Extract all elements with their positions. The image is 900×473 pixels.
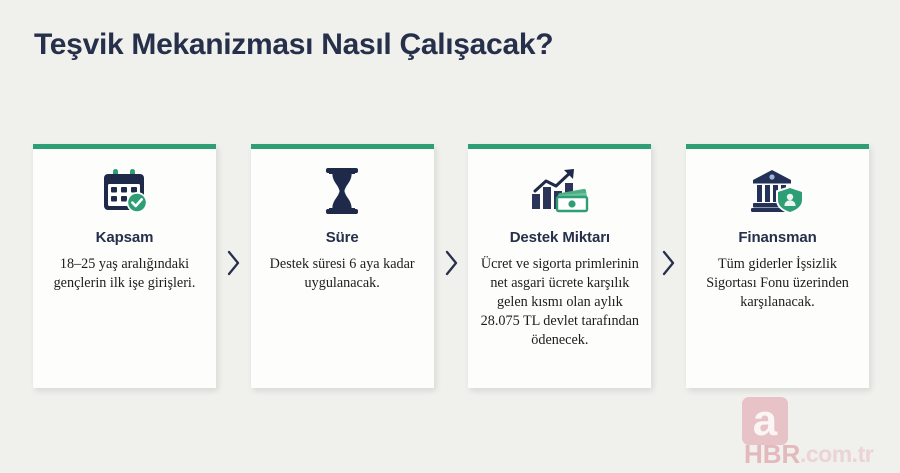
ahaber-watermark-logo: a HBR .com.tr [734, 395, 886, 465]
card-kapsam[interactable]: Kapsam 18–25 yaş aralığındaki gençlerin … [33, 144, 216, 388]
watermark-brand: HBR [744, 439, 800, 470]
card-body: 18–25 yaş aralığındaki gençlerin ilk işe… [42, 255, 207, 293]
chevron-right-icon-1 [216, 248, 251, 278]
page-title: Teşvik Mekanizması Nasıl Çalışacak? [34, 28, 553, 62]
card-accent-bar [251, 144, 434, 149]
card-sure[interactable]: Süre Destek süresi 6 aya kadar uygulanac… [251, 144, 434, 388]
card-body: Destek süresi 6 aya kadar uygulanacak. [260, 255, 425, 293]
hourglass-icon [320, 166, 364, 216]
card-accent-bar [686, 144, 869, 149]
card-heading: Süre [326, 229, 359, 246]
chevron-right-icon-3 [651, 248, 686, 278]
card-destek-miktari[interactable]: Destek Miktarı Ücret ve sigorta primleri… [468, 144, 651, 388]
watermark-a-letter: a [742, 397, 788, 445]
card-body: Ücret ve sigorta primlerinin net asgari … [477, 255, 642, 349]
card-body: Tüm giderler İşsizlik Sigortası Fonu üze… [695, 255, 860, 312]
watermark-domain: .com.tr [800, 441, 873, 468]
card-heading: Kapsam [96, 229, 154, 246]
card-heading: Finansman [738, 229, 816, 246]
card-heading: Destek Miktarı [510, 229, 610, 246]
growth-chart-money-icon [529, 166, 591, 216]
bank-shield-icon [750, 166, 806, 216]
card-finansman[interactable]: Finansman Tüm giderler İşsizlik Sigortas… [686, 144, 869, 388]
calendar-check-icon [100, 166, 150, 216]
card-accent-bar [33, 144, 216, 149]
chevron-right-icon-2 [434, 248, 469, 278]
card-accent-bar [468, 144, 651, 149]
cards-row: Kapsam 18–25 yaş aralığındaki gençlerin … [33, 144, 869, 390]
